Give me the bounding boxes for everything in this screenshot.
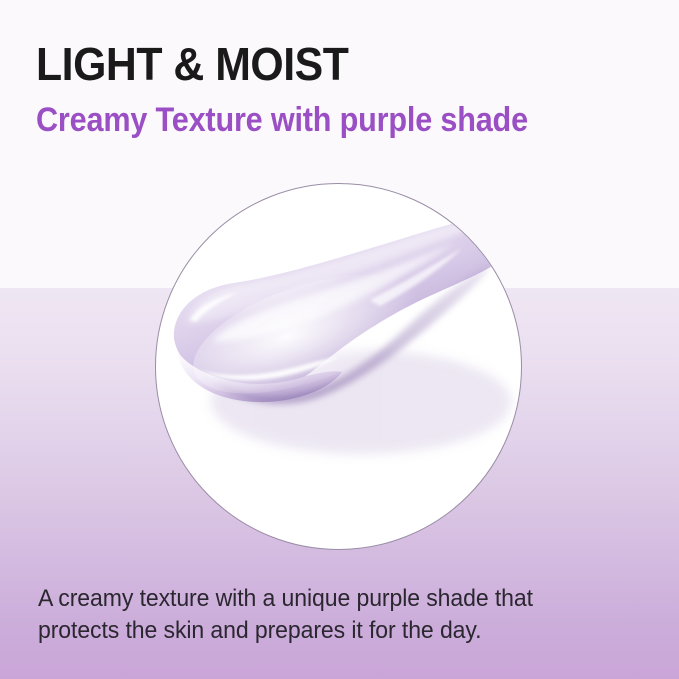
caption-text: A creamy texture with a unique purple sh… [38,583,614,646]
swatch-circle-stage [155,183,522,550]
page-title: LIGHT & MOIST [36,40,348,88]
caption-line-1: A creamy texture with a unique purple sh… [38,583,614,615]
page-subtitle: Creamy Texture with purple shade [36,102,528,139]
product-feature-poster: LIGHT & MOIST Creamy Texture with purple… [0,0,679,679]
circle-disc [155,183,522,550]
cream-texture-smear-icon [156,184,522,550]
caption-line-2: protects the skin and prepares it for th… [38,615,614,647]
